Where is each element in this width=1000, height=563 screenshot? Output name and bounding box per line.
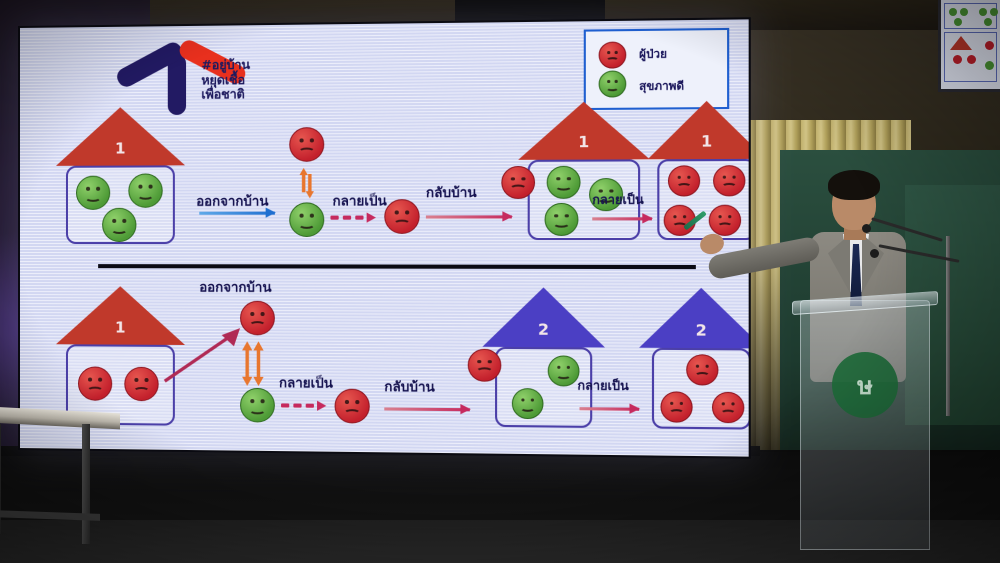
top-house-end-roof-icon: 1 <box>648 100 749 159</box>
bottom-exposure-sick-face-icon <box>240 301 275 336</box>
face-red <box>709 205 741 236</box>
face-green <box>102 208 136 242</box>
bottom-infected-face-icon <box>335 389 370 424</box>
top-exposure-double-arrow-icon <box>297 168 316 199</box>
bottom-house-return-occupants <box>497 349 590 426</box>
face-red <box>660 391 692 422</box>
bottom-house-end-number: 2 <box>696 321 707 340</box>
top-house-start: 1 <box>56 107 185 244</box>
top-becomes-label-1: กลายเป็น <box>333 190 387 212</box>
bottom-house-start-number: 1 <box>115 318 126 336</box>
legend-face-swatches <box>599 42 627 98</box>
bottom-leave-home-label: ออกจากบ้าน <box>199 276 271 297</box>
bottom-house-end: 2 <box>637 288 749 430</box>
bottom-becomes-arrow-icon <box>579 405 639 412</box>
legend-sick-face-icon <box>599 42 627 69</box>
top-leave-home-arrow-icon <box>199 210 275 216</box>
face-green <box>545 203 579 236</box>
bottom-leave-home-arrow-icon <box>163 325 246 390</box>
top-exposure-healthy-face-icon <box>289 202 324 237</box>
bottom-house-return-number: 2 <box>538 320 549 339</box>
corner-monitor-legend <box>944 3 997 29</box>
top-house-start-occupants <box>68 167 173 242</box>
legend-sick-label: ผู้ป่วย <box>639 43 684 62</box>
corner-monitor-diagram <box>944 32 997 82</box>
top-house-start-number: 1 <box>115 139 126 157</box>
top-becomes-dashed-arrow-icon <box>330 215 376 223</box>
face-green <box>76 176 110 210</box>
bottom-return-home-label: กลับบ้าน <box>384 376 435 398</box>
face-red <box>712 392 744 423</box>
bottom-house-end-body <box>652 348 749 430</box>
logo-line-3: เพื่อชาติ <box>201 87 283 102</box>
top-house-return-number: 1 <box>578 133 589 152</box>
top-returning-sick-face-icon <box>501 166 535 199</box>
legend-box: ผู้ป่วย สุขภาพดี <box>584 28 729 110</box>
top-house-return-roof-icon: 1 <box>518 101 650 160</box>
face-red <box>713 165 745 196</box>
bottom-exposure-healthy-face-icon <box>240 388 275 423</box>
projection-screen: #อยู่บ้าน หยุดเชื้อ เพื่อชาติ <box>18 17 751 458</box>
top-infected-face-icon <box>384 199 419 234</box>
speaker-hair <box>828 170 880 200</box>
row-divider <box>98 264 696 269</box>
face-green <box>547 166 581 199</box>
projection-screen-surface: #อยู่บ้าน หยุดเชื้อ เพื่อชาติ <box>20 19 749 456</box>
top-house-start-roof-icon: 1 <box>56 107 185 166</box>
bottom-becomes-label-2: กลายเป็น <box>577 376 628 396</box>
corner-monitor <box>938 0 1000 92</box>
legend-healthy-face-icon <box>599 70 627 97</box>
foreground-table-leg-2 <box>0 424 1 534</box>
logo-text: #อยู่บ้าน หยุดเชื้อ เพื่อชาติ <box>201 57 283 102</box>
foreground-table-leg <box>82 424 90 544</box>
top-leave-home-label: ออกจากบ้าน <box>196 190 268 211</box>
face-red <box>78 366 112 400</box>
top-becomes-arrow-icon <box>592 215 652 221</box>
bottom-house-return-roof-icon: 2 <box>482 287 605 347</box>
bottom-house-end-occupants <box>654 350 749 428</box>
bottom-exposure-double-arrow-icon <box>238 341 269 386</box>
logo-line-1: #อยู่บ้าน <box>201 57 283 72</box>
face-red <box>686 354 718 385</box>
acrylic-podium <box>800 300 930 550</box>
face-green <box>128 173 162 207</box>
podium-emblem: ษ <box>832 352 898 418</box>
face-green <box>512 388 544 419</box>
legend-labels: ผู้ป่วย สุขภาพดี <box>639 43 684 94</box>
bottom-house-end-roof-icon: 2 <box>639 288 749 349</box>
face-red <box>668 165 700 196</box>
top-becomes-label-2: กลายเป็น <box>592 190 643 210</box>
scene-root: #อยู่บ้าน หยุดเชื้อ เพื่อชาติ <box>0 0 1000 563</box>
face-red <box>124 367 158 402</box>
bottom-returning-sick-face-icon <box>468 349 502 382</box>
bottom-return-home-arrow-icon <box>384 405 470 412</box>
bottom-becomes-label-1: กลายเป็น <box>279 372 333 394</box>
legend-healthy-label: สุขภาพดี <box>639 76 684 95</box>
top-return-home-label: กลับบ้าน <box>426 182 477 204</box>
top-house-end-number: 1 <box>701 132 712 151</box>
microphone-head-2-icon <box>870 249 879 258</box>
top-house-end-body <box>657 159 748 240</box>
slide-canvas: #อยู่บ้าน หยุดเชื้อ เพื่อชาติ <box>20 19 749 456</box>
microphone-head-1-icon <box>862 224 871 233</box>
face-green <box>548 355 580 386</box>
top-house-end-occupants <box>659 161 748 238</box>
bottom-becomes-dashed-arrow-icon <box>281 402 326 411</box>
top-house-start-body <box>66 165 175 244</box>
top-return-home-arrow-icon <box>426 213 512 219</box>
top-exposure-sick-face-icon <box>289 127 324 162</box>
